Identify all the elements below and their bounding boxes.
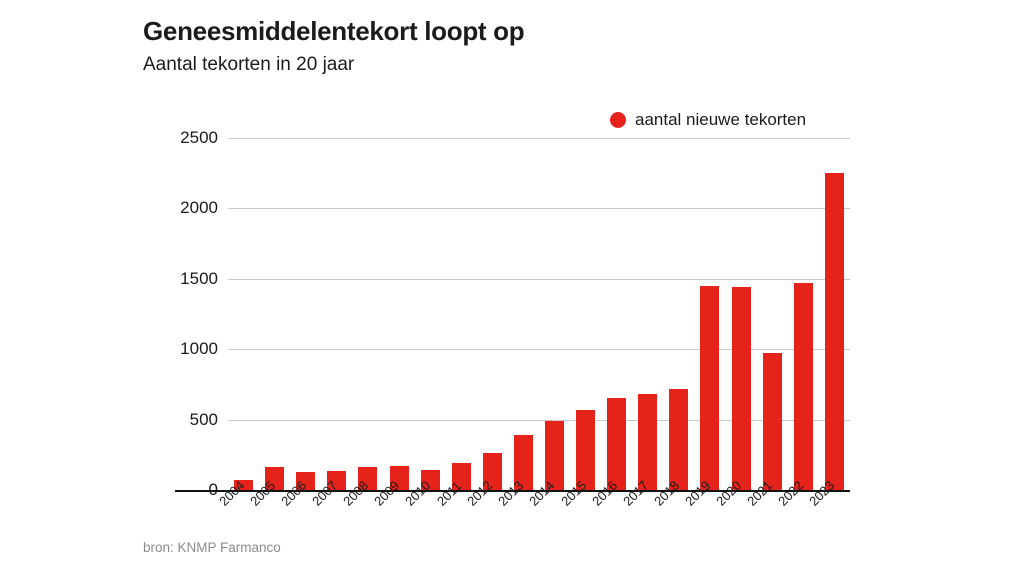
x-label-slot: 2023 [819, 494, 850, 554]
legend-label: aantal nieuwe tekorten [635, 110, 806, 130]
bar[interactable] [732, 287, 751, 490]
bar-slot [632, 138, 663, 490]
y-axis-tick-label: 2500 [180, 128, 218, 148]
x-axis-tick-label: 2004 [216, 478, 247, 509]
bar-slot [352, 138, 383, 490]
y-axis-tick-label: 2000 [180, 198, 218, 218]
bar[interactable] [607, 398, 626, 490]
bar[interactable] [669, 389, 688, 490]
page-title: Geneesmiddelentekort loopt op [143, 16, 524, 47]
bar[interactable] [825, 173, 844, 490]
bar[interactable] [638, 394, 657, 490]
bar-slot [757, 138, 788, 490]
bar-slot [228, 138, 259, 490]
bar-slot [539, 138, 570, 490]
bar-slot [570, 138, 601, 490]
y-axis-tick-label: 1500 [180, 269, 218, 289]
bar-slot [694, 138, 725, 490]
bar-slot [259, 138, 290, 490]
bar-slot [477, 138, 508, 490]
bar-slot [321, 138, 352, 490]
page-subtitle: Aantal tekorten in 20 jaar [143, 54, 354, 76]
bar[interactable] [700, 286, 719, 490]
bar-slot [415, 138, 446, 490]
x-axis-labels: 2004200520062007200820092010201120122013… [228, 494, 850, 554]
bar[interactable] [763, 353, 782, 490]
bar-slot [508, 138, 539, 490]
y-axis-tick-label: 1000 [180, 339, 218, 359]
bar-slot [663, 138, 694, 490]
y-axis-tick-label: 500 [190, 410, 218, 430]
bar-slot [788, 138, 819, 490]
bar-slot [383, 138, 414, 490]
plot-area: 05001000150020002500 [228, 138, 850, 490]
red-circle-icon [610, 112, 626, 128]
bar-series [228, 138, 850, 490]
bar-slot [290, 138, 321, 490]
bar-slot [726, 138, 757, 490]
bar-slot [446, 138, 477, 490]
chart-legend: aantal nieuwe tekorten [610, 110, 806, 130]
source-note: bron: KNMP Farmanco [143, 540, 281, 555]
bar-slot [601, 138, 632, 490]
chart-canvas: Geneesmiddelentekort loopt op Aantal tek… [0, 0, 1024, 576]
bar-slot [819, 138, 850, 490]
bar[interactable] [794, 283, 813, 490]
